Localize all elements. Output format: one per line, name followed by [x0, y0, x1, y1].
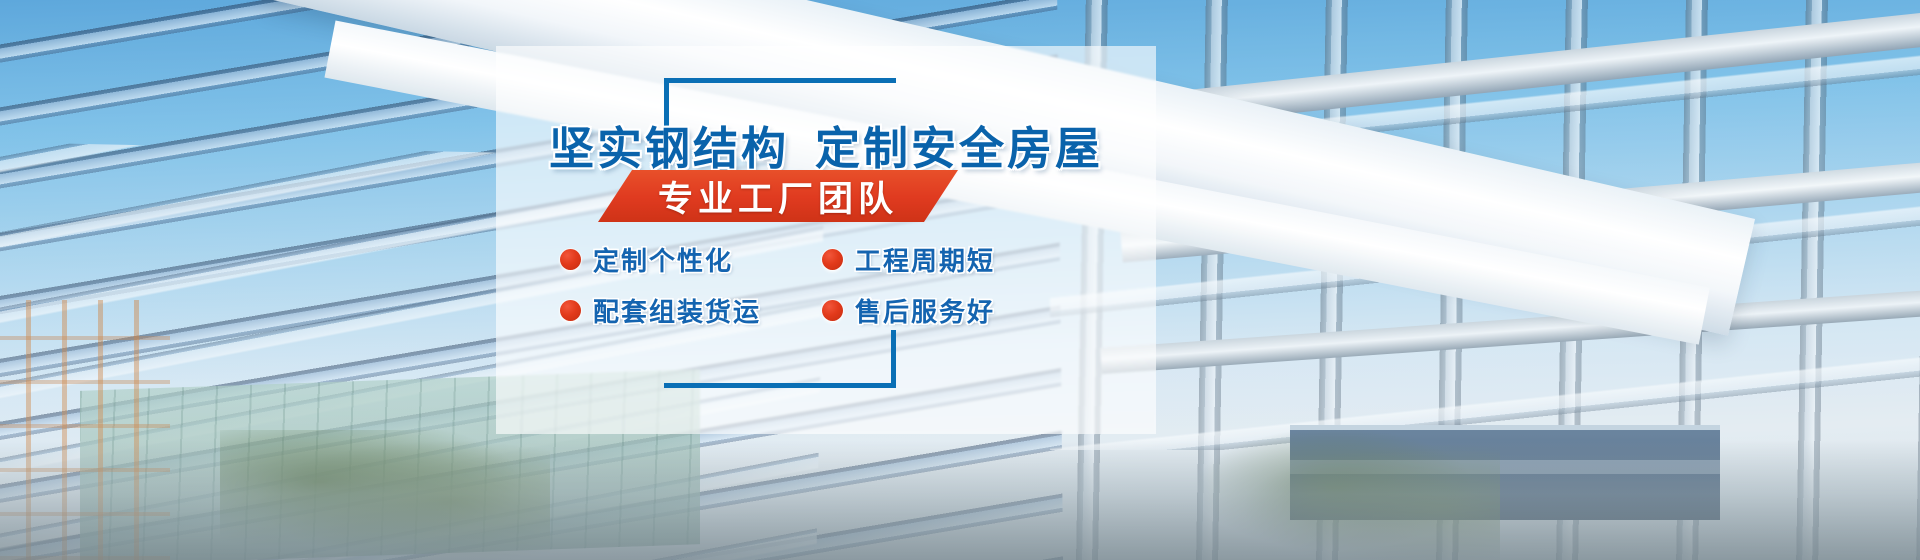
bullet-dot-icon	[560, 249, 581, 270]
corner-bracket-bottom-right-icon	[664, 330, 896, 388]
feature-label: 售后服务好	[855, 292, 995, 329]
hero-banner: 坚实钢结构定制安全房屋 专业工厂团队 定制个性化 工程周期短 配套组装货运 售后…	[0, 0, 1920, 560]
bullet-dot-icon	[560, 300, 581, 321]
ribbon-banner: 专业工厂团队	[598, 170, 958, 222]
feature-label: 定制个性化	[593, 241, 733, 278]
feature-list: 定制个性化 工程周期短 配套组装货运 售后服务好	[560, 236, 1100, 334]
ribbon-label: 专业工厂团队	[598, 170, 958, 222]
feature-item: 定制个性化	[560, 236, 810, 283]
headline: 坚实钢结构定制安全房屋	[496, 112, 1156, 177]
feature-item: 售后服务好	[822, 287, 1072, 334]
bullet-dot-icon	[822, 249, 843, 270]
feature-label: 工程周期短	[855, 241, 995, 278]
feature-label: 配套组装货运	[593, 292, 761, 329]
feature-item: 工程周期短	[822, 236, 1072, 283]
bullet-dot-icon	[822, 300, 843, 321]
headline-part-1: 坚实钢结构	[549, 122, 789, 175]
headline-part-2: 定制安全房屋	[815, 122, 1103, 175]
feature-item: 配套组装货运	[560, 287, 810, 334]
